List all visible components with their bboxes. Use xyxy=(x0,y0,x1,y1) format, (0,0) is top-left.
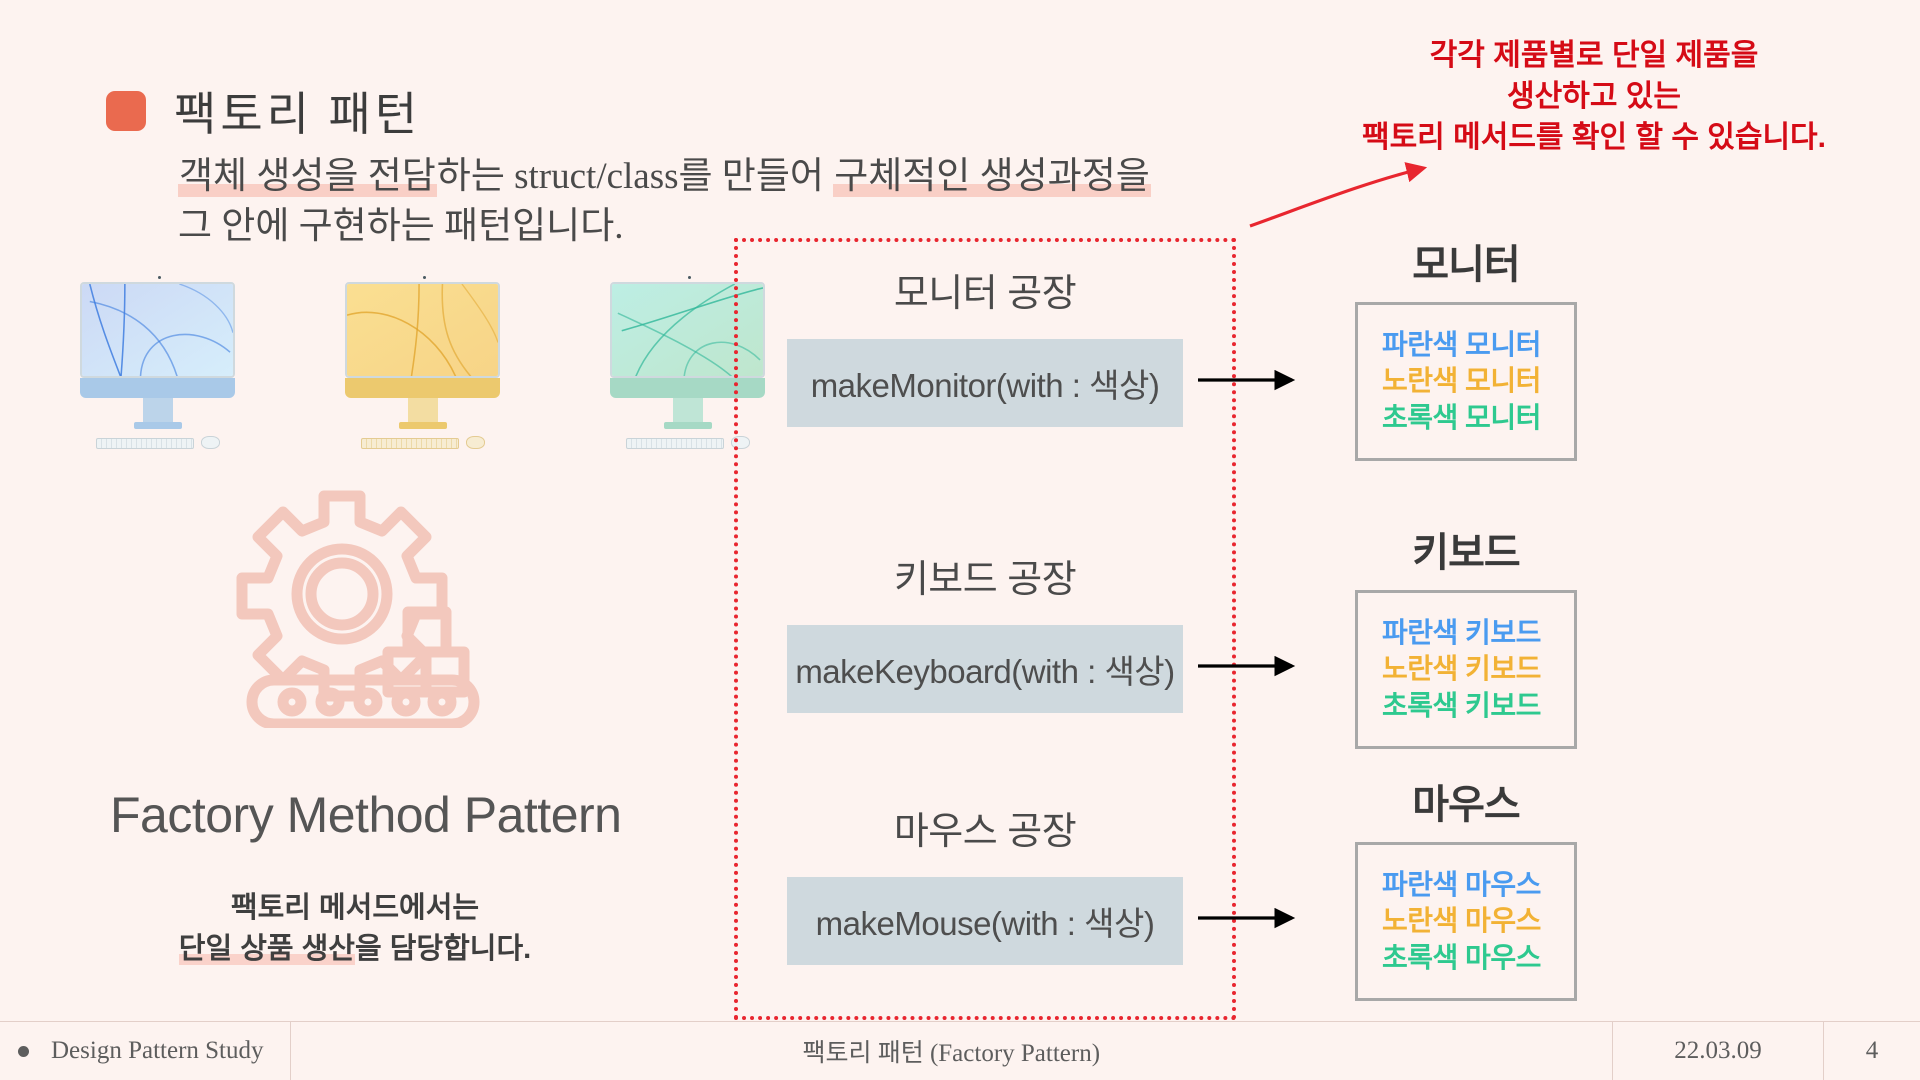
pattern-title: Factory Method Pattern xyxy=(110,786,621,844)
product-monitor-list: 파란색 모니터 노란색 모니터 초록색 모니터 xyxy=(1355,302,1577,461)
arrow-mouse-icon xyxy=(1196,906,1302,930)
imac-yellow xyxy=(345,282,500,449)
slide-title-row: 팩토리 패턴 xyxy=(106,78,421,144)
footer-date: 22.03.09 xyxy=(1612,1022,1823,1080)
pattern-caption-highlight: 단일 상품 생산 xyxy=(179,933,355,965)
annotation-line-2: 생산하고 있는 xyxy=(1284,77,1904,118)
imac-yellow-screen xyxy=(345,282,500,378)
mouse-icon xyxy=(201,436,220,449)
list-item: 노란색 키보드 xyxy=(1358,651,1574,687)
footer-center-label: 팩토리 패턴 (Factory Pattern) xyxy=(291,1022,1613,1080)
slide-subtitle: 객체 생성을 전담하는 struct/class를 만들어 구체적인 생성과정을… xyxy=(178,152,1188,251)
factory-monitor: 모니터 공장 makeMonitor(with : 색상) xyxy=(760,262,1210,427)
imac-yellow-wallpaper-icon xyxy=(347,284,498,378)
factory-keyboard-name: 키보드 공장 xyxy=(760,548,1210,603)
keyboard-icon xyxy=(361,438,459,449)
imac-yellow-peripherals xyxy=(345,436,500,449)
product-keyboard-list: 파란색 키보드 노란색 키보드 초록색 키보드 xyxy=(1355,590,1577,749)
keyboard-icon xyxy=(96,438,194,449)
imac-yellow-chin xyxy=(345,378,500,398)
footer-left-label: Design Pattern Study xyxy=(51,1022,291,1080)
imac-blue-wallpaper-icon xyxy=(82,284,233,378)
list-item: 파란색 모니터 xyxy=(1358,327,1574,363)
arrow-keyboard-icon xyxy=(1196,654,1302,678)
factory-mouse-name: 마우스 공장 xyxy=(760,800,1210,855)
pattern-caption-line-1: 팩토리 메서드에서는 xyxy=(231,892,479,924)
list-item: 노란색 마우스 xyxy=(1358,903,1574,939)
product-mouse: 마우스 파란색 마우스 노란색 마우스 초록색 마우스 xyxy=(1326,772,1606,1001)
factory-mouse: 마우스 공장 makeMouse(with : 색상) xyxy=(760,800,1210,965)
annotation-line-3: 팩토리 메서드를 확인 할 수 있습니다. xyxy=(1284,118,1904,159)
list-item: 파란색 키보드 xyxy=(1358,615,1574,651)
imac-yellow-camera-icon xyxy=(423,276,426,279)
imac-blue-peripherals xyxy=(80,436,235,449)
subtitle-highlight-1: 객체 생성을 전담 xyxy=(178,156,437,197)
factory-mouse-method[interactable]: makeMouse(with : 색상) xyxy=(787,877,1183,965)
factory-monitor-method[interactable]: makeMonitor(with : 색상) xyxy=(787,339,1183,427)
imac-yellow-neck xyxy=(408,398,438,422)
imac-blue-camera-icon xyxy=(158,276,161,279)
subtitle-highlight-2: 구체적인 생성과정을 xyxy=(833,156,1151,197)
arrow-monitor-icon xyxy=(1196,368,1302,392)
pattern-caption: 팩토리 메서드에서는 단일 상품 생산을 담당합니다. xyxy=(90,888,620,970)
mouse-icon xyxy=(466,436,485,449)
product-keyboard: 키보드 파란색 키보드 노란색 키보드 초록색 키보드 xyxy=(1326,520,1606,749)
product-monitor: 모니터 파란색 모니터 노란색 모니터 초록색 모니터 xyxy=(1326,232,1606,461)
factory-monitor-name: 모니터 공장 xyxy=(760,262,1210,317)
list-item: 파란색 마우스 xyxy=(1358,867,1574,903)
subtitle-line-2: 그 안에 구현하는 패턴입니다. xyxy=(178,206,623,247)
title-bullet-icon xyxy=(106,91,146,131)
product-monitor-name: 모니터 xyxy=(1326,232,1606,290)
annotation-callout: 각각 제품별로 단일 제품을 생산하고 있는 팩토리 메서드를 확인 할 수 있… xyxy=(1284,36,1904,158)
pattern-caption-line-2b: 을 담당합니다. xyxy=(355,933,531,965)
slide-footer: Design Pattern Study 팩토리 패턴 (Factory Pat… xyxy=(0,1021,1920,1080)
imac-blue-neck xyxy=(143,398,173,422)
factory-gear-conveyor-icon xyxy=(236,488,486,728)
imac-illustration-row xyxy=(80,282,765,449)
product-keyboard-name: 키보드 xyxy=(1326,520,1606,578)
product-mouse-name: 마우스 xyxy=(1326,772,1606,830)
annotation-line-1: 각각 제품별로 단일 제품을 xyxy=(1284,36,1904,77)
annotation-arrow-icon xyxy=(1246,160,1436,230)
footer-page-number: 4 xyxy=(1823,1022,1920,1080)
footer-bullet-icon xyxy=(18,1046,29,1057)
product-mouse-list: 파란색 마우스 노란색 마우스 초록색 마우스 xyxy=(1355,842,1577,1001)
list-item: 초록색 키보드 xyxy=(1358,688,1574,724)
list-item: 노란색 모니터 xyxy=(1358,363,1574,399)
page-title: 팩토리 패턴 xyxy=(174,78,421,144)
imac-blue-screen xyxy=(80,282,235,378)
imac-yellow-foot xyxy=(399,422,447,429)
imac-blue-foot xyxy=(134,422,182,429)
list-item: 초록색 마우스 xyxy=(1358,940,1574,976)
factory-keyboard: 키보드 공장 makeKeyboard(with : 색상) xyxy=(760,548,1210,713)
list-item: 초록색 모니터 xyxy=(1358,400,1574,436)
imac-blue xyxy=(80,282,235,449)
subtitle-part-2: 하는 struct/class를 만들어 xyxy=(437,156,833,197)
imac-green-camera-icon xyxy=(688,276,691,279)
keyboard-icon xyxy=(626,438,724,449)
factory-keyboard-method[interactable]: makeKeyboard(with : 색상) xyxy=(787,625,1183,713)
imac-green-foot xyxy=(664,422,712,429)
imac-green-neck xyxy=(673,398,703,422)
imac-blue-chin xyxy=(80,378,235,398)
